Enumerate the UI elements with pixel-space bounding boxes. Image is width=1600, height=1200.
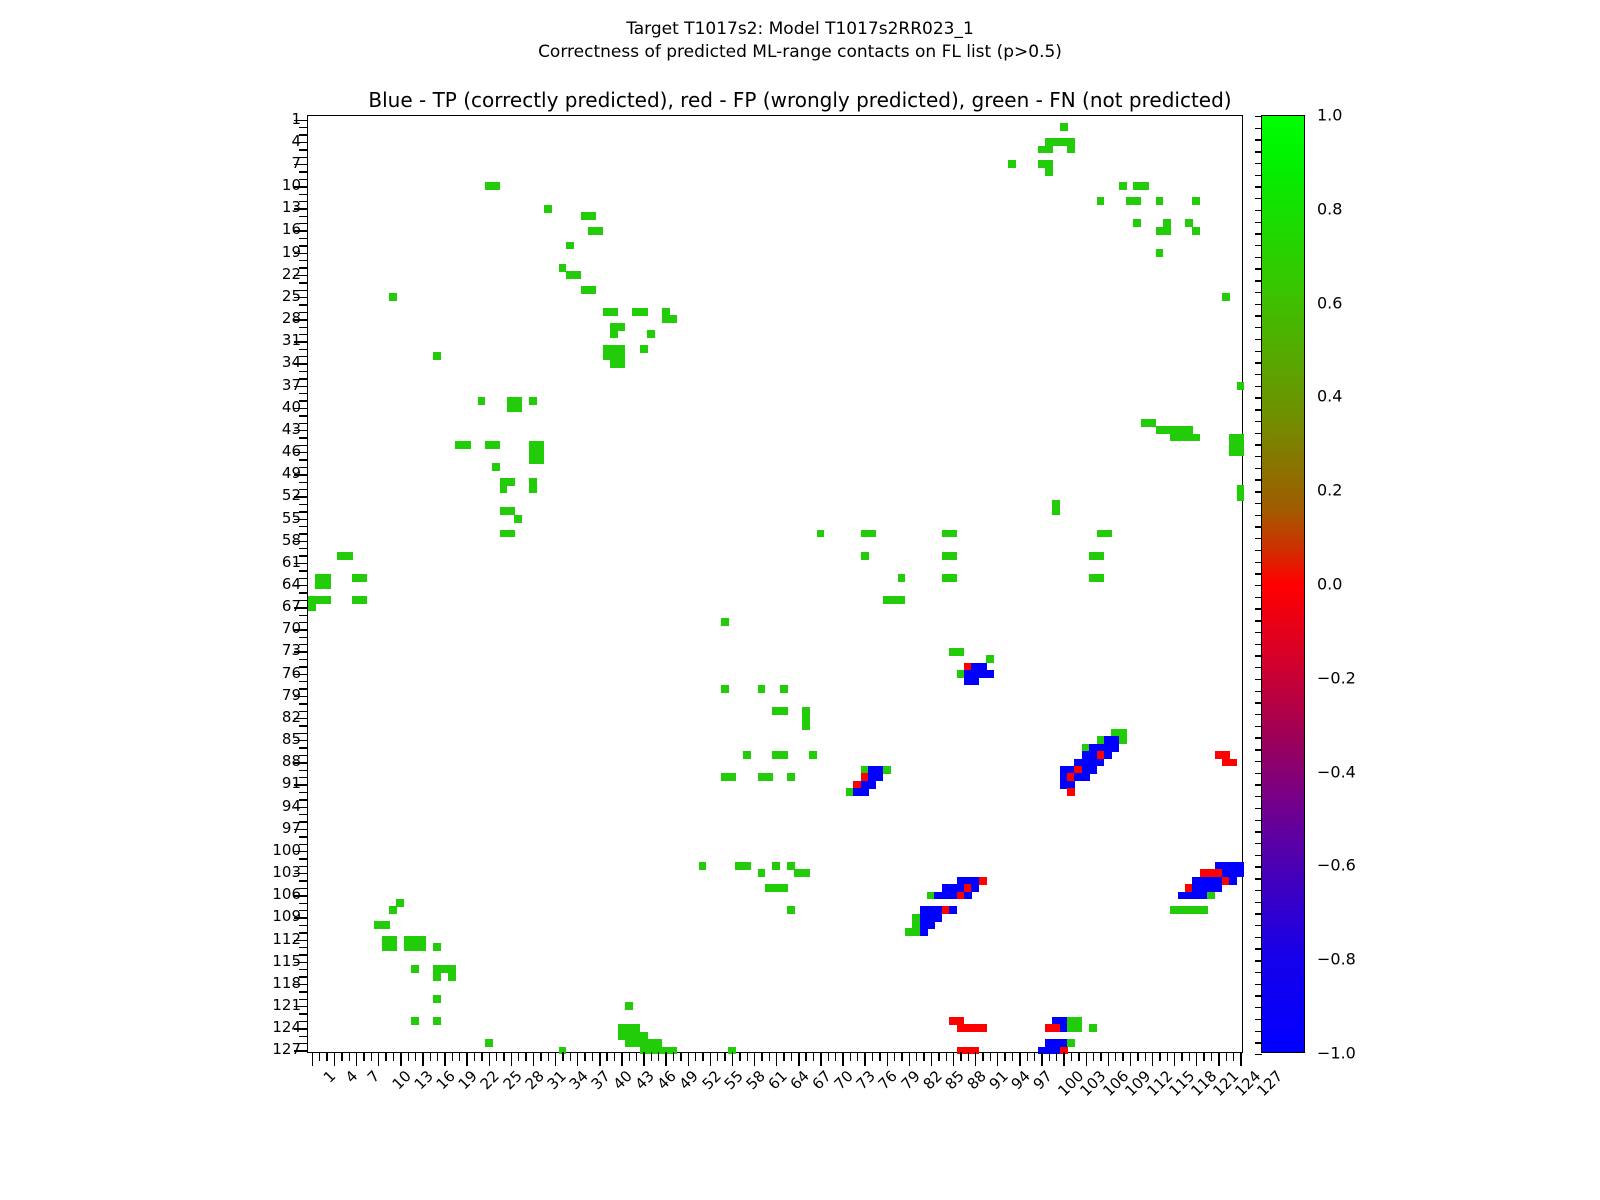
- colorbar-minor-tick: [1255, 304, 1262, 305]
- colorbar-tick-label: 0.8: [1317, 199, 1342, 218]
- colorbar-tick-label: 0.6: [1317, 293, 1342, 312]
- colorbar-minor-tick: [1255, 913, 1262, 914]
- colorbar-minor-tick: [1255, 585, 1262, 586]
- colorbar-minor-tick: [1255, 702, 1262, 703]
- y-tick-label: 91: [282, 774, 301, 792]
- colorbar-minor-tick: [1255, 691, 1262, 692]
- colorbar-minor-tick: [1255, 866, 1262, 867]
- y-tick-label: 1: [291, 110, 301, 128]
- colorbar-minor-tick: [1255, 409, 1262, 410]
- y-tick-label: 19: [282, 243, 301, 261]
- colorbar-minor-tick: [1255, 468, 1262, 469]
- colorbar-minor-tick: [1255, 984, 1262, 985]
- colorbar-minor-tick: [1255, 397, 1262, 398]
- colorbar-minor-tick: [1255, 796, 1262, 797]
- colorbar-minor-tick: [1255, 479, 1262, 480]
- y-tick-label: 85: [282, 730, 301, 748]
- colorbar-minor-tick: [1255, 608, 1262, 609]
- colorbar-minor-tick: [1255, 351, 1262, 352]
- y-tick-label: 64: [282, 575, 301, 593]
- colorbar-minor-tick: [1255, 972, 1262, 973]
- y-tick-label: 115: [272, 952, 301, 970]
- colorbar-minor-tick: [1255, 667, 1262, 668]
- y-tick-label: 58: [282, 531, 301, 549]
- colorbar-minor-tick: [1255, 456, 1262, 457]
- colorbar-minor-tick: [1255, 890, 1262, 891]
- colorbar-minor-tick: [1255, 362, 1262, 363]
- y-tick-label: 70: [282, 619, 301, 637]
- colorbar-tick-label: 1.0: [1317, 106, 1342, 125]
- colorbar-minor-tick: [1255, 808, 1262, 809]
- y-tick-label: 10: [282, 176, 301, 194]
- colorbar-minor-tick: [1255, 831, 1262, 832]
- y-tick-label: 28: [282, 309, 301, 327]
- y-tick-label: 43: [282, 420, 301, 438]
- colorbar-tick-label: −0.2: [1317, 668, 1356, 687]
- y-tick-label: 82: [282, 708, 301, 726]
- colorbar-minor-tick: [1255, 315, 1262, 316]
- colorbar-minor-tick: [1255, 1054, 1262, 1055]
- colorbar-minor-tick: [1255, 937, 1262, 938]
- figure-title-block: Target T1017s2: Model T1017s2RR023_1 Cor…: [0, 18, 1600, 64]
- colorbar-minor-tick: [1255, 163, 1262, 164]
- colorbar-minor-tick: [1255, 644, 1262, 645]
- colorbar-minor-tick: [1255, 116, 1262, 117]
- x-tick-label: 7: [364, 1067, 383, 1086]
- colorbar-minor-tick: [1255, 995, 1262, 996]
- colorbar-minor-tick: [1255, 444, 1262, 445]
- colorbar-minor-tick: [1255, 526, 1262, 527]
- figure-title-line-2: Correctness of predicted ML-range contac…: [0, 41, 1600, 64]
- colorbar-minor-tick: [1255, 280, 1262, 281]
- colorbar-minor-tick: [1255, 726, 1262, 727]
- colorbar-minor-tick: [1255, 1007, 1262, 1008]
- colorbar-tick-label: −0.6: [1317, 856, 1356, 875]
- y-tick-label: 88: [282, 752, 301, 770]
- y-tick-label: 124: [272, 1018, 301, 1036]
- y-tick-label: 121: [272, 996, 301, 1014]
- colorbar-tick-labels: 1.00.80.60.40.20.0−0.2−0.4−0.6−0.8−1.0: [1305, 115, 1505, 1053]
- colorbar-minor-tick: [1255, 714, 1262, 715]
- x-axis-tick-labels: 1471013161922252831343740434649525558616…: [0, 1053, 1600, 1153]
- colorbar-tick-label: −1.0: [1317, 1044, 1356, 1063]
- colorbar-minor-tick: [1255, 1019, 1262, 1020]
- colorbar-minor-tick: [1255, 186, 1262, 187]
- colorbar-minor-tick: [1255, 948, 1262, 949]
- y-tick-label: 46: [282, 442, 301, 460]
- colorbar-minor-tick: [1255, 761, 1262, 762]
- y-tick-label: 25: [282, 287, 301, 305]
- colorbar-minor-tick: [1255, 175, 1262, 176]
- y-tick-label: 97: [282, 819, 301, 837]
- y-tick-label: 76: [282, 664, 301, 682]
- colorbar-minor-tick: [1255, 151, 1262, 152]
- colorbar-minor-tick: [1255, 820, 1262, 821]
- colorbar-minor-tick: [1255, 327, 1262, 328]
- colorbar-minor-tick: [1255, 421, 1262, 422]
- colorbar-minor-tick: [1255, 597, 1262, 598]
- colorbar-minor-tick: [1255, 1031, 1262, 1032]
- colorbar-minor-tick: [1255, 1042, 1262, 1043]
- colorbar-minor-tick: [1255, 386, 1262, 387]
- y-tick-label: 100: [272, 841, 301, 859]
- colorbar-minor-tick: [1255, 679, 1262, 680]
- colorbar-minor-tick: [1255, 620, 1262, 621]
- x-tick-label: 4: [342, 1067, 361, 1086]
- colorbar-minor-tick: [1255, 374, 1262, 375]
- y-tick-label: 55: [282, 509, 301, 527]
- y-tick-label: 73: [282, 641, 301, 659]
- colorbar-minor-tick: [1255, 855, 1262, 856]
- colorbar-tick-label: −0.4: [1317, 762, 1356, 781]
- colorbar-minor-tick: [1255, 433, 1262, 434]
- y-tick-label: 106: [272, 885, 301, 903]
- colorbar-tick-label: 0.4: [1317, 387, 1342, 406]
- y-tick-label: 4: [291, 132, 301, 150]
- colorbar-minor-tick: [1255, 784, 1262, 785]
- colorbar-minor-tick: [1255, 245, 1262, 246]
- y-tick-label: 40: [282, 398, 301, 416]
- y-tick-label: 34: [282, 353, 301, 371]
- y-tick-label: 103: [272, 863, 301, 881]
- colorbar-minor-tick: [1255, 902, 1262, 903]
- figure-legend-title: Blue - TP (correctly predicted), red - F…: [0, 88, 1600, 112]
- y-tick-label: 67: [282, 597, 301, 615]
- x-tick-label: 97: [1030, 1067, 1056, 1093]
- colorbar: [1261, 115, 1305, 1053]
- colorbar-minor-tick: [1255, 339, 1262, 340]
- y-tick-label: 112: [272, 930, 301, 948]
- y-tick-label: 31: [282, 331, 301, 349]
- y-tick-label: 94: [282, 797, 301, 815]
- y-tick-label: 13: [282, 198, 301, 216]
- colorbar-minor-tick: [1255, 550, 1262, 551]
- colorbar-minor-tick: [1255, 491, 1262, 492]
- colorbar-minor-tick: [1255, 515, 1262, 516]
- colorbar-minor-tick: [1255, 960, 1262, 961]
- y-tick-label: 22: [282, 265, 301, 283]
- y-tick-label: 37: [282, 376, 301, 394]
- colorbar-minor-tick: [1255, 925, 1262, 926]
- colorbar-minor-tick: [1255, 222, 1262, 223]
- y-tick-label: 49: [282, 464, 301, 482]
- y-tick-label: 61: [282, 553, 301, 571]
- y-tick-label: 79: [282, 686, 301, 704]
- colorbar-minor-tick: [1255, 878, 1262, 879]
- y-tick-label: 118: [272, 974, 301, 992]
- colorbar-minor-tick: [1255, 257, 1262, 258]
- y-tick-label: 16: [282, 220, 301, 238]
- y-tick-label: 7: [291, 154, 301, 172]
- x-tick-label: 127: [1254, 1067, 1287, 1100]
- colorbar-minor-tick: [1255, 632, 1262, 633]
- colorbar-minor-tick: [1255, 573, 1262, 574]
- x-tick-label: 1: [319, 1067, 338, 1086]
- colorbar-minor-tick: [1255, 538, 1262, 539]
- colorbar-minor-tick: [1255, 198, 1262, 199]
- figure-title-line-1: Target T1017s2: Model T1017s2RR023_1: [0, 18, 1600, 41]
- colorbar-minor-tick: [1255, 843, 1262, 844]
- colorbar-minor-tick: [1255, 233, 1262, 234]
- colorbar-minor-tick: [1255, 210, 1262, 211]
- colorbar-minor-tick: [1255, 268, 1262, 269]
- colorbar-tick-label: −0.8: [1317, 950, 1356, 969]
- colorbar-minor-tick: [1255, 737, 1262, 738]
- colorbar-minor-tick: [1255, 655, 1262, 656]
- colorbar-tick-label: 0.2: [1317, 481, 1342, 500]
- y-tick-label: 52: [282, 486, 301, 504]
- colorbar-minor-tick: [1255, 292, 1262, 293]
- colorbar-minor-tick: [1255, 562, 1262, 563]
- y-tick-label: 109: [272, 907, 301, 925]
- colorbar-minor-tick: [1255, 139, 1262, 140]
- colorbar-tick-label: 0.0: [1317, 575, 1342, 594]
- colorbar-minor-tick: [1255, 503, 1262, 504]
- colorbar-minor-tick: [1255, 749, 1262, 750]
- colorbar-minor-tick: [1255, 128, 1262, 129]
- colorbar-minor-tick: [1255, 773, 1262, 774]
